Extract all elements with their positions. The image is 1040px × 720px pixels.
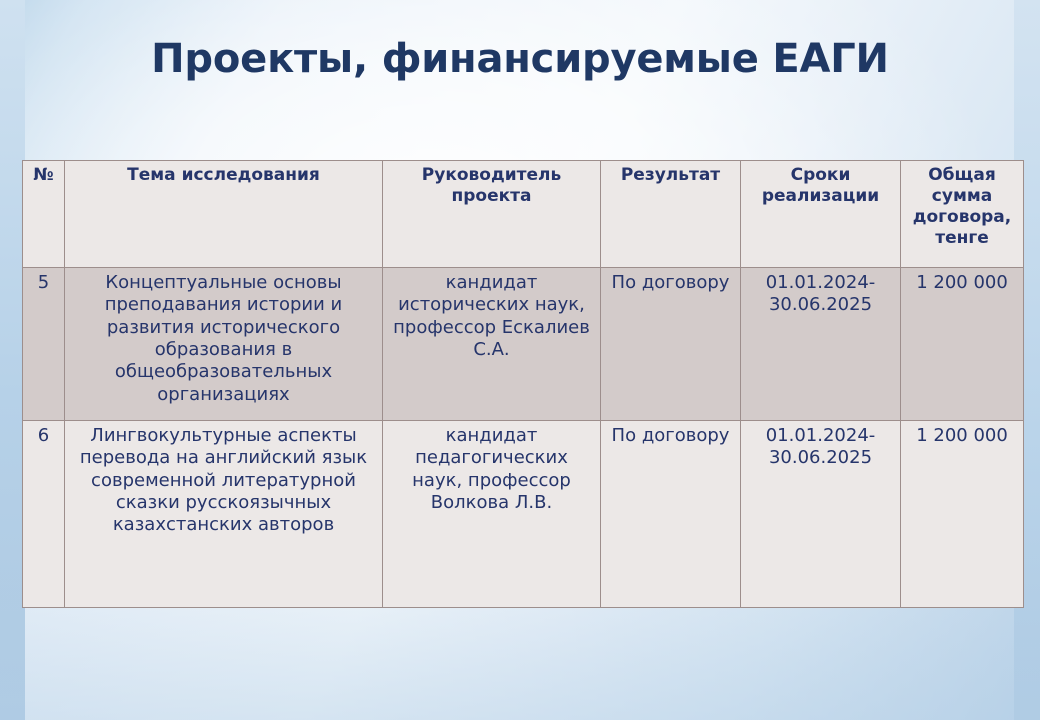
column-header-term: Сроки реализации xyxy=(741,161,901,268)
cell-lead: кандидат педагогических наук, профессор … xyxy=(383,421,601,608)
column-header-result: Результат xyxy=(601,161,741,268)
column-header-amount: Общая сумма договора, тенге xyxy=(901,161,1024,268)
projects-table: № Тема исследования Руководитель проекта… xyxy=(22,160,1024,608)
column-header-number: № xyxy=(23,161,65,268)
cell-amount: 1 200 000 xyxy=(901,268,1024,421)
table-header: № Тема исследования Руководитель проекта… xyxy=(23,161,1024,268)
projects-table-container: № Тема исследования Руководитель проекта… xyxy=(22,160,1023,608)
table-header-row: № Тема исследования Руководитель проекта… xyxy=(23,161,1024,268)
cell-topic: Концептуальные основы преподавания истор… xyxy=(65,268,383,421)
cell-number: 6 xyxy=(23,421,65,608)
cell-term: 01.01.2024-30.06.2025 xyxy=(741,268,901,421)
column-header-topic: Тема исследования xyxy=(65,161,383,268)
cell-term: 01.01.2024-30.06.2025 xyxy=(741,421,901,608)
slide-canvas: Проекты, финансируемые ЕАГИ № Тема иссле… xyxy=(0,0,1040,720)
table-body: 5 Концептуальные основы преподавания ист… xyxy=(23,268,1024,608)
cell-lead: кандидат исторических наук, профессор Ес… xyxy=(383,268,601,421)
cell-amount: 1 200 000 xyxy=(901,421,1024,608)
table-row: 5 Концептуальные основы преподавания ист… xyxy=(23,268,1024,421)
column-header-lead: Руководитель проекта xyxy=(383,161,601,268)
cell-number: 5 xyxy=(23,268,65,421)
cell-topic: Лингвокультурные аспекты перевода на анг… xyxy=(65,421,383,608)
cell-result: По договору xyxy=(601,268,741,421)
slide-title: Проекты, финансируемые ЕАГИ xyxy=(0,36,1040,82)
cell-result: По договору xyxy=(601,421,741,608)
table-row: 6 Лингвокультурные аспекты перевода на а… xyxy=(23,421,1024,608)
